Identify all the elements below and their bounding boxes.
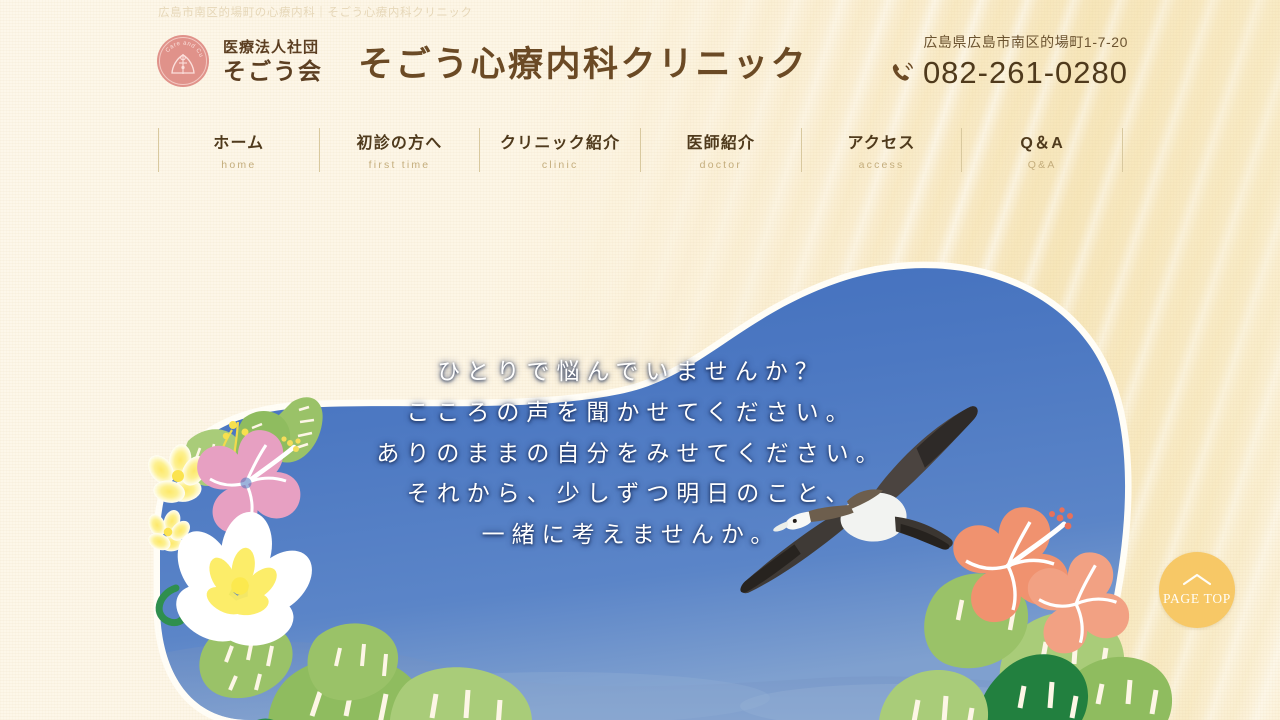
site-title: そごう心療内科クリニック [358, 36, 808, 87]
clinic-address: 広島県広島市南区的場町1-7-20 [889, 32, 1128, 52]
org-name: そごう会 [223, 60, 323, 83]
nav-item-home[interactable]: ホーム home [158, 128, 320, 172]
nav-item-label-ja: Q＆A [1020, 129, 1064, 153]
chevron-up-icon [1182, 573, 1212, 586]
nav-item-label-ja: クリニック紹介 [500, 129, 620, 153]
nav-item-clinic[interactable]: クリニック紹介 clinic [480, 128, 641, 172]
nav-item-access[interactable]: アクセス access [802, 128, 963, 172]
nav-item-label-en: clinic [542, 159, 579, 171]
nav-item-doctor[interactable]: 医師紹介 doctor [641, 128, 802, 172]
clinic-phone[interactable]: 082-261-0280 [889, 55, 1128, 91]
nav-item-label-ja: 医師紹介 [686, 129, 755, 153]
clinic-seal-icon: Care and Cure [156, 34, 210, 88]
phone-icon [889, 60, 915, 86]
hero-section: ひとりで悩んでいませんか？ こころの声を聞かせてください。 ありのままの自分をみ… [0, 186, 1280, 720]
site-header: Care and Cure 医療法人社団 そごう会 そごう心療内科クリニック 広… [0, 30, 1280, 110]
hero-artwork [0, 186, 1280, 720]
top-tagline-bar: 広島市南区的場町の心療内科｜そごう心療内科クリニック [0, 0, 1280, 24]
nav-item-label-ja: 初診の方へ [357, 129, 443, 153]
org-name-block: 医療法人社団 そごう会 [223, 40, 323, 83]
org-name-prefix: 医療法人社団 [223, 40, 323, 55]
site-tagline: 広島市南区的場町の心療内科｜そごう心療内科クリニック [158, 4, 473, 20]
main-navigation: ホーム home 初診の方へ first time クリニック紹介 clinic… [158, 128, 1123, 172]
nav-item-label-en: Q&A [1028, 159, 1057, 171]
nav-item-first-time[interactable]: 初診の方へ first time [320, 128, 481, 172]
header-contact-block: 広島県広島市南区的場町1-7-20 082-261-0280 [889, 32, 1128, 91]
nav-item-label-ja: アクセス [848, 129, 916, 153]
nav-item-label-en: access [859, 159, 905, 171]
nav-item-qa[interactable]: Q＆A Q&A [962, 128, 1123, 172]
nav-item-label-en: first time [369, 159, 431, 171]
nav-item-label-ja: ホーム [213, 129, 264, 153]
page-top-label: PAGE TOP [1163, 591, 1231, 607]
brand-block[interactable]: Care and Cure 医療法人社団 そごう会 そごう心療内科クリニック [156, 34, 808, 88]
nav-item-label-en: home [221, 159, 256, 171]
phone-number: 082-261-0280 [923, 55, 1128, 91]
nav-item-label-en: doctor [700, 159, 742, 171]
page-top-button[interactable]: PAGE TOP [1159, 552, 1235, 628]
